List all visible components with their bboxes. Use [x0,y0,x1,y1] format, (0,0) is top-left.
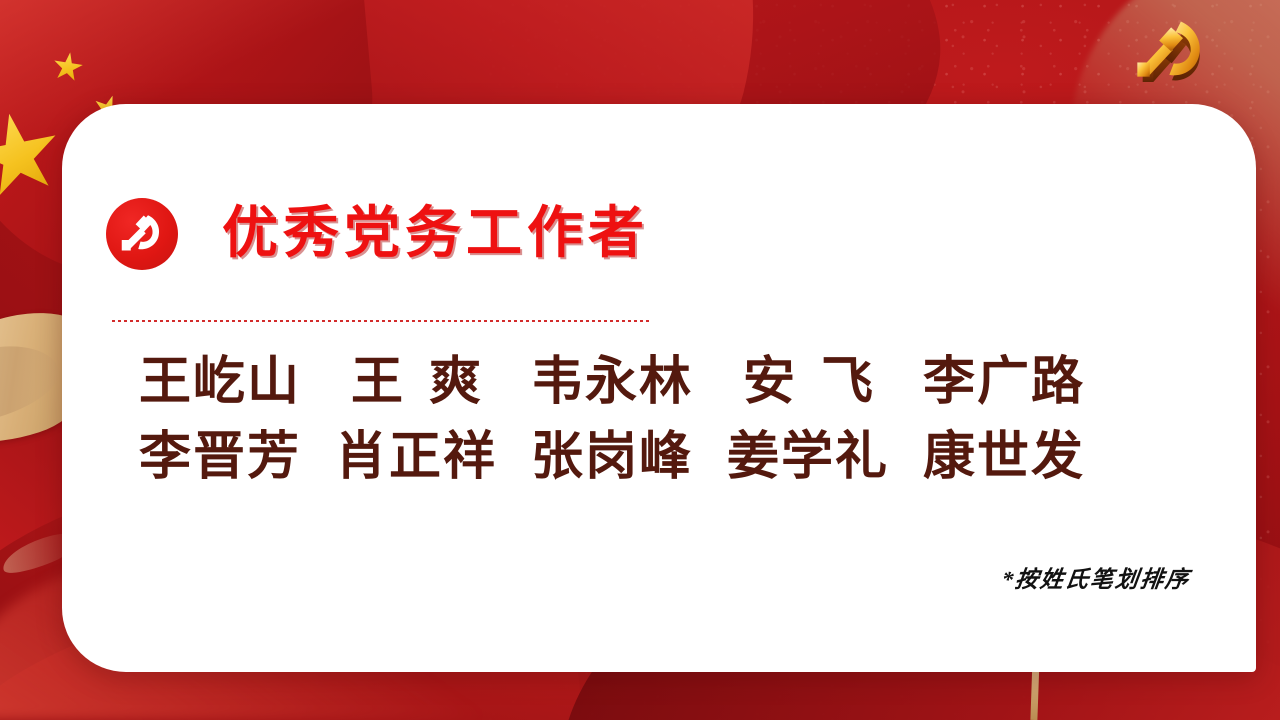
honoree-row: 王屹山 王 爽 韦永林 安 飞 李广路 [122,352,1182,413]
honoree-name: 张岗峰 [514,427,710,488]
honoree-name: 王屹山 [122,352,318,413]
page-title: 优秀党务工作者 [222,206,649,262]
dotted-divider [112,320,652,322]
honoree-name: 王 爽 [318,352,514,413]
card-header: 优秀党务工作者 [106,198,649,270]
honoree-name: 安 飞 [710,352,906,413]
content-card: 优秀党务工作者 王屹山 王 爽 韦永林 安 飞 李广路 李晋芳 肖正祥 张岗峰 … [62,104,1256,672]
party-emblem-gold-icon [1126,18,1218,98]
honoree-name: 康世发 [906,427,1102,488]
honoree-name: 肖正祥 [318,427,514,488]
honoree-name-grid: 王屹山 王 爽 韦永林 安 飞 李广路 李晋芳 肖正祥 张岗峰 姜学礼 康世发 [122,352,1182,503]
party-emblem-badge-icon [106,198,178,270]
sort-note: *按姓氏笔划排序 [999,560,1192,594]
slide-stage: 优秀党务工作者 王屹山 王 爽 韦永林 安 飞 李广路 李晋芳 肖正祥 张岗峰 … [0,0,1280,720]
honoree-name: 姜学礼 [710,427,906,488]
honoree-name: 李广路 [906,352,1102,413]
honoree-row: 李晋芳 肖正祥 张岗峰 姜学礼 康世发 [122,427,1182,488]
honoree-name: 韦永林 [514,352,710,413]
honoree-name: 李晋芳 [122,427,318,488]
